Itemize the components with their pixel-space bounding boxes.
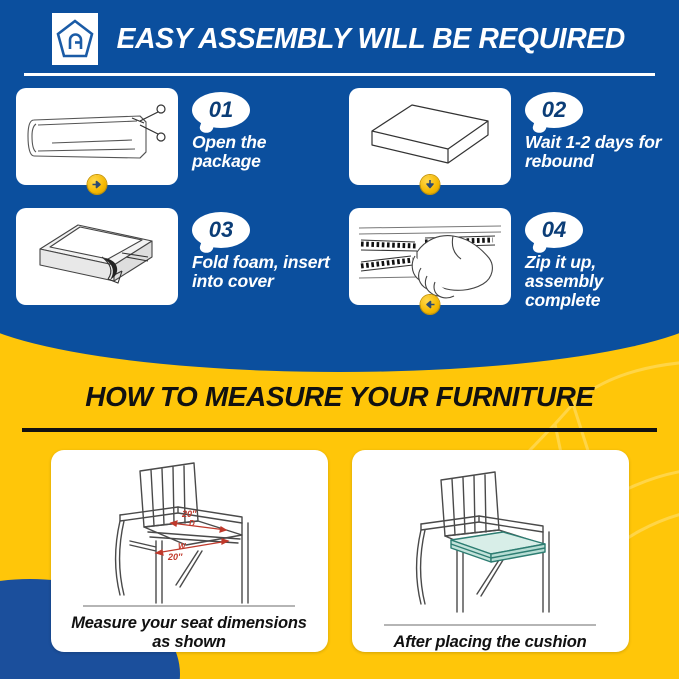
- step-03-label: Fold foam, insert into cover: [192, 253, 339, 291]
- step-01-arrow-badge: [88, 175, 107, 194]
- step-02-illustration-card: [349, 88, 511, 185]
- header-divider: [24, 73, 655, 76]
- header: EASY ASSEMBLY WILL BE REQUIRED: [0, 0, 679, 78]
- step-row-2: 03 Fold foam, insert into cover: [0, 208, 679, 318]
- step-02-text: 02 Wait 1-2 days for rebound: [525, 88, 678, 171]
- step-01-text: 01 Open the package: [192, 88, 339, 171]
- assembly-steps: 01 Open the package: [0, 88, 679, 328]
- step-03-number-badge: 03: [192, 212, 250, 248]
- foam-inserted-into-cover-icon: [22, 213, 172, 301]
- logo-box: [52, 13, 98, 65]
- step-04-number-badge: 04: [525, 212, 583, 248]
- dimension-width-value: 20″: [167, 552, 183, 562]
- step-01-number-badge: 01: [192, 92, 250, 128]
- step-01-label: Open the package: [192, 133, 339, 171]
- step-04-text: 04 Zip it up, assembly complete: [525, 208, 678, 310]
- step-03: 03 Fold foam, insert into cover: [0, 208, 339, 318]
- arrow-left-icon: [425, 299, 436, 310]
- measure-section-divider: [22, 428, 657, 432]
- chair-dimensions-illustration-area: 20″ D W 20″: [51, 450, 328, 605]
- step-01-illustration-card: [16, 88, 178, 185]
- step-row-1: 01 Open the package: [0, 88, 679, 198]
- measure-card-dimensions-caption: Measure your seat dimensions as shown: [51, 607, 328, 652]
- step-03-text: 03 Fold foam, insert into cover: [192, 208, 339, 291]
- chair-cushion-illustration-area: [352, 450, 629, 624]
- step-04-arrow-badge: [421, 295, 440, 314]
- infographic-page: EASY ASSEMBLY WILL BE REQUIRED: [0, 0, 679, 679]
- hand-zipping-zipper-icon: [355, 212, 505, 302]
- step-02-arrow-badge: [421, 175, 440, 194]
- chair-with-dimension-arrows-icon: 20″ D W 20″: [94, 455, 284, 605]
- step-03-illustration-card: [16, 208, 178, 305]
- measure-card-dimensions: 20″ D W 20″ Measure your seat dimensions…: [51, 450, 328, 652]
- dimension-width-axis: W: [178, 542, 187, 551]
- step-02-number-badge: 02: [525, 92, 583, 128]
- step-04-label: Zip it up, assembly complete: [525, 253, 678, 310]
- house-pentagon-icon: [56, 18, 94, 60]
- measure-card-cushion-caption: After placing the cushion: [383, 626, 596, 652]
- measure-section-title: HOW TO MEASURE YOUR FURNITURE: [0, 381, 679, 413]
- measure-card-cushion: After placing the cushion: [352, 450, 629, 652]
- flat-foam-slab-icon: [360, 95, 500, 179]
- dimension-depth-axis: D: [189, 519, 195, 528]
- dimension-depth-value: 20″: [181, 509, 197, 519]
- step-04: 04 Zip it up, assembly complete: [339, 208, 678, 318]
- step-02-label: Wait 1-2 days for rebound: [525, 133, 678, 171]
- measure-cards: 20″ D W 20″ Measure your seat dimensions…: [0, 450, 679, 660]
- page-title: EASY ASSEMBLY WILL BE REQUIRED: [117, 23, 625, 56]
- step-04-illustration-card: [349, 208, 511, 305]
- step-01: 01 Open the package: [0, 88, 339, 198]
- vacuum-sealed-package-with-scissors-icon: [22, 94, 172, 180]
- arrow-down-icon: [425, 179, 436, 190]
- step-02: 02 Wait 1-2 days for rebound: [339, 88, 678, 198]
- chair-with-cushion-icon: [395, 464, 585, 614]
- arrow-right-icon: [92, 179, 103, 190]
